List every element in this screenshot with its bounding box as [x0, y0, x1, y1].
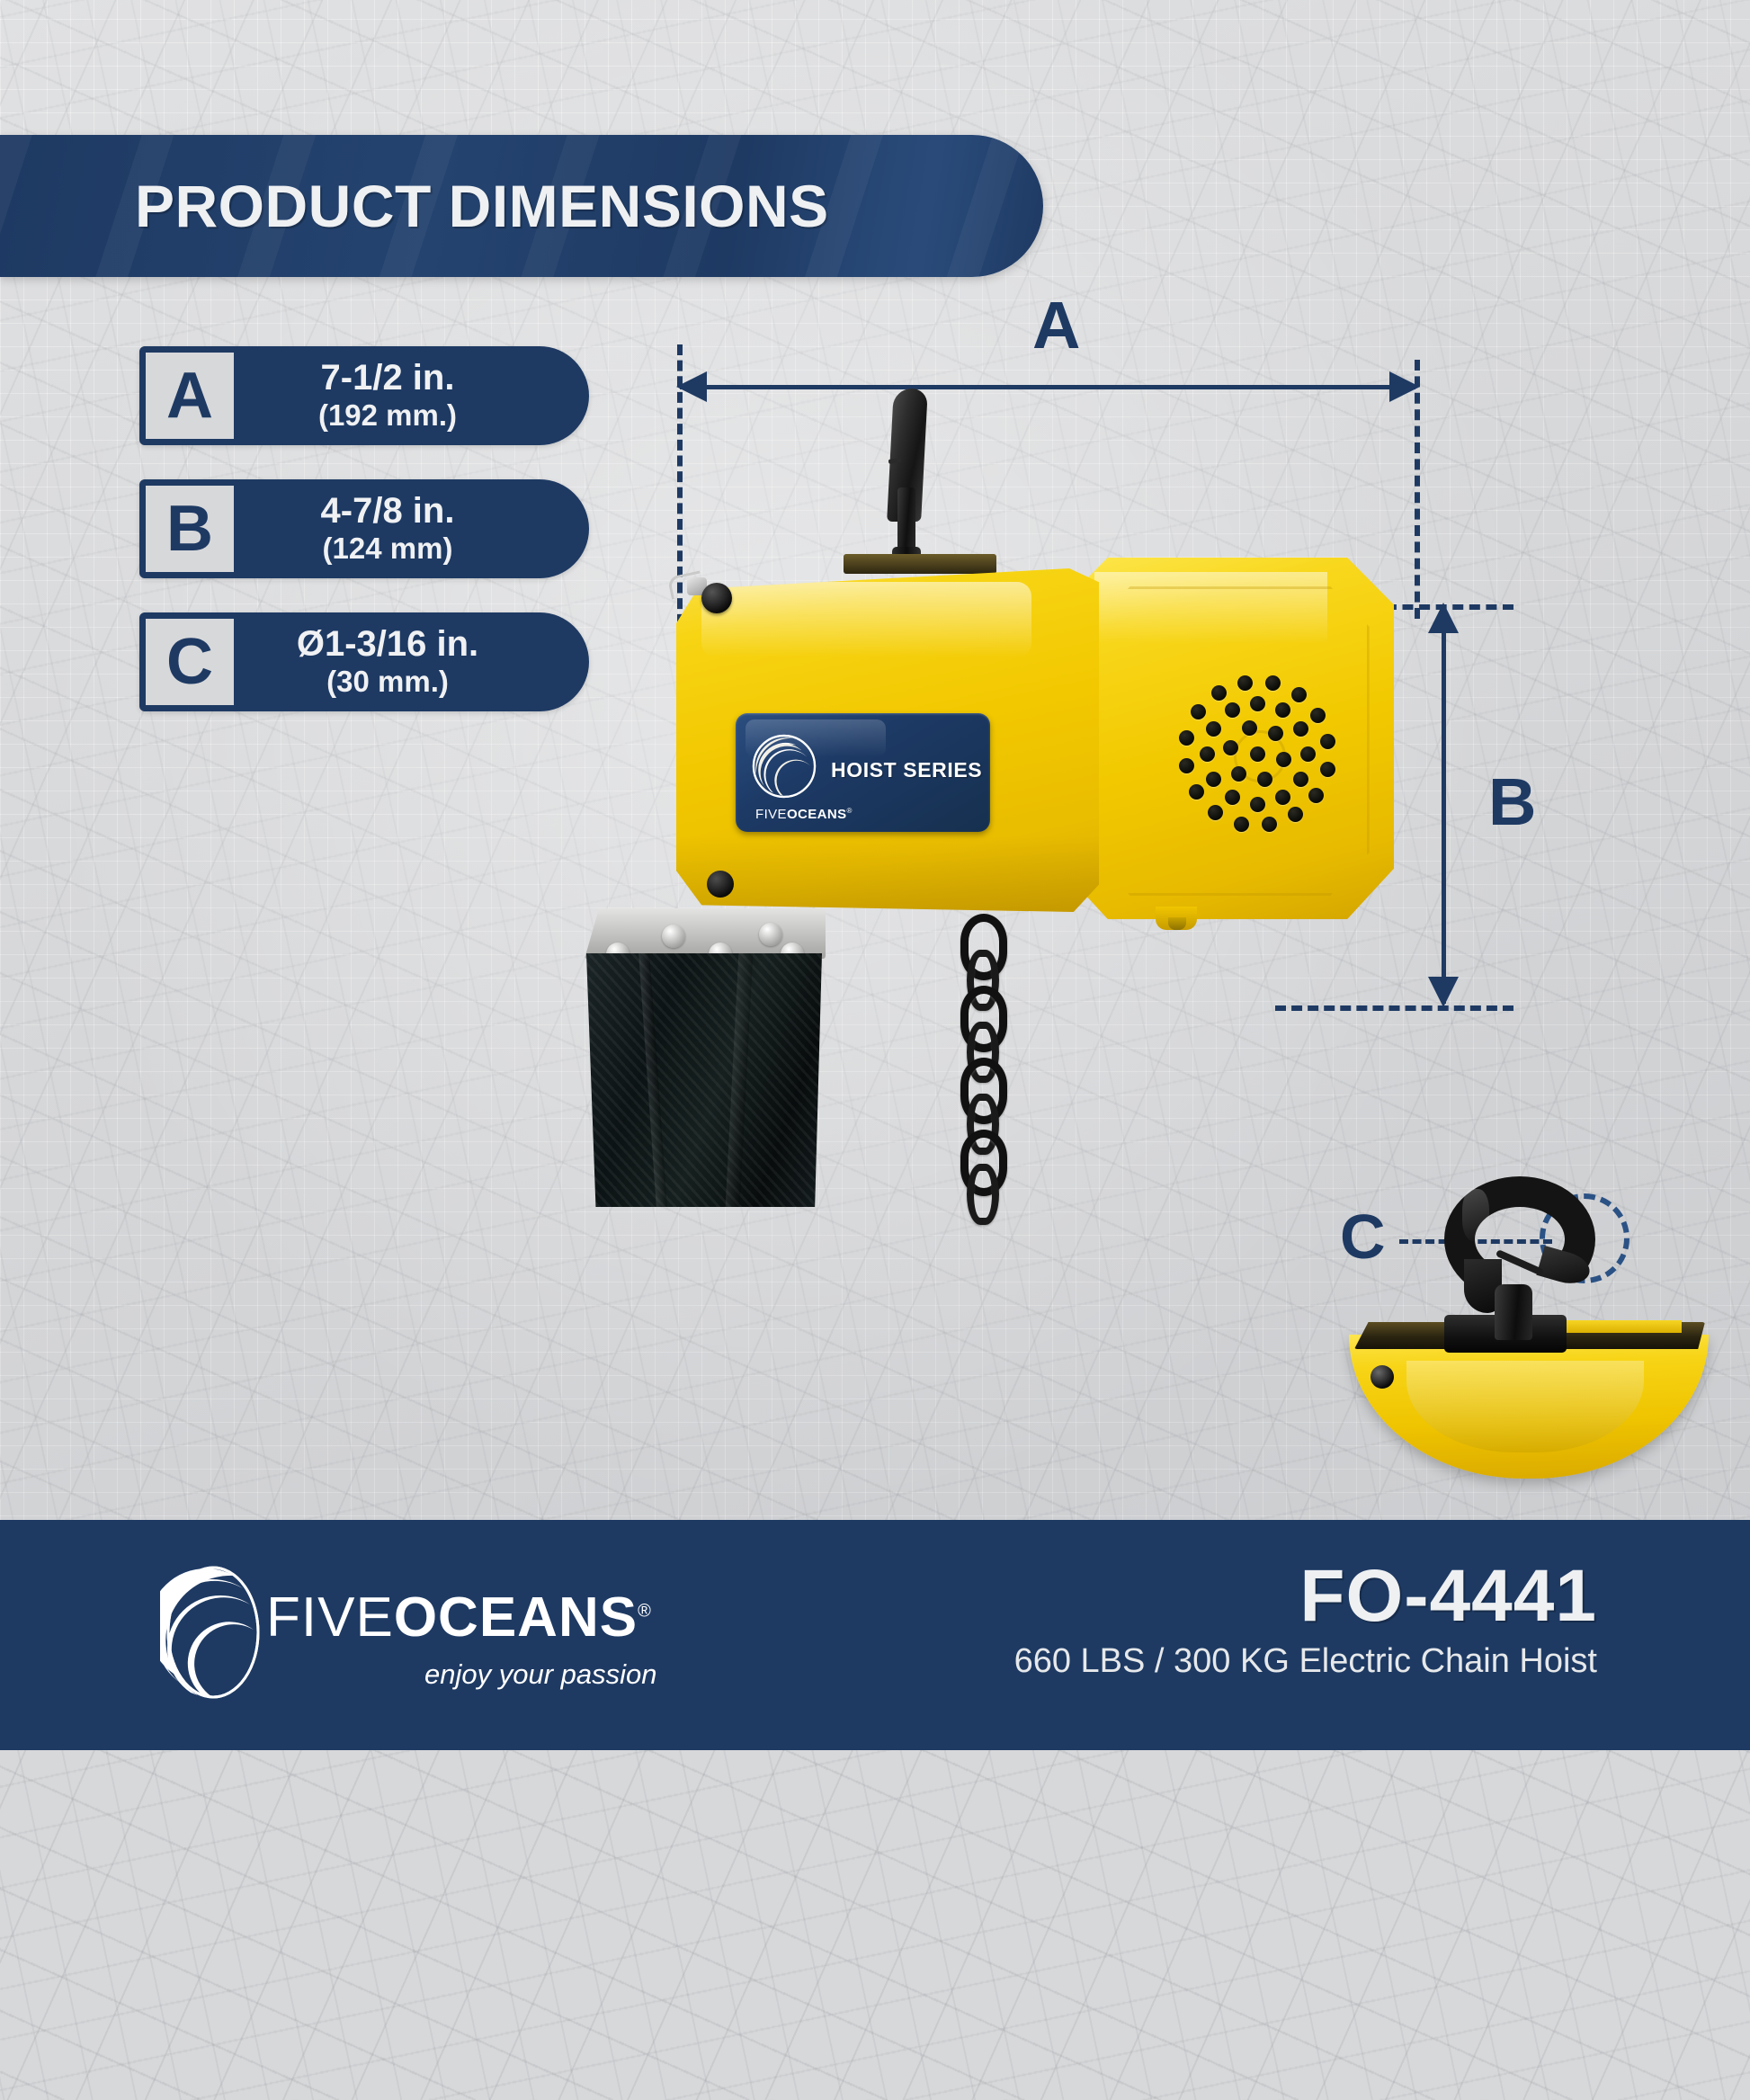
vent-hole: [1310, 708, 1326, 723]
vent-hole: [1242, 720, 1257, 736]
vent-hole: [1291, 687, 1307, 702]
dimension-line-b: [1442, 608, 1446, 1004]
product-image-hoist: HOIST SERIES FIVEOCEANS®: [665, 378, 1403, 1295]
vent-hole: [1320, 734, 1335, 749]
hoist-top-mounting-plate: [844, 554, 996, 574]
vent-hole: [1206, 772, 1221, 787]
dimension-legend: A 7-1/2 in. (192 mm.) B 4-7/8 in. (124 m…: [139, 346, 589, 746]
bag-bolt: [662, 925, 685, 948]
load-hook-highlight: [1462, 1189, 1489, 1241]
five-oceans-logo-mark-icon: [751, 733, 817, 800]
screw-icon-bottom-left: [707, 871, 734, 898]
vent-hole: [1179, 730, 1194, 746]
arrow-down-icon: [1428, 977, 1459, 1007]
vent-hole: [1265, 675, 1281, 691]
vent-hole: [1225, 790, 1240, 805]
vent-hole: [1276, 752, 1291, 767]
bag-fold: [638, 953, 667, 1207]
dimension-label-b: B: [1488, 769, 1536, 836]
nameplate-brand-thin: FIVE: [755, 807, 787, 822]
vent-hole: [1268, 726, 1283, 741]
vent-hole: [1189, 784, 1204, 800]
legend-metric-c: (30 mm.): [326, 664, 449, 700]
nameplate-brand-text: FIVEOCEANS®: [755, 807, 853, 822]
legend-letter-b: B: [166, 496, 213, 561]
nameplate-series-text: HOIST SERIES: [831, 758, 982, 782]
detail-view-hook: [1329, 1169, 1725, 1475]
nameplate-brand-bold: OCEANS: [787, 807, 847, 822]
footer-tagline: enjoy your passion: [424, 1658, 657, 1691]
vent-hole: [1275, 790, 1290, 805]
vent-hole: [1225, 702, 1240, 718]
bag-fold: [726, 953, 754, 1207]
legend-letter-box-a: A: [139, 346, 240, 445]
legend-values-a: 7-1/2 in. (192 mm.): [240, 359, 589, 433]
five-oceans-logo-mark-icon: [160, 1565, 266, 1700]
hook-block-body: [1349, 1335, 1709, 1479]
footer-brand-logo: FIVEOCEANS® enjoy your passion: [160, 1558, 628, 1711]
hook-block-facet: [1406, 1361, 1644, 1452]
vent-hole: [1293, 772, 1308, 787]
legend-imperial-c: Ø1-3/16 in.: [297, 625, 478, 664]
top-suspension-hook-icon: [887, 389, 928, 559]
vent-hole: [1231, 766, 1246, 782]
chain-link: [967, 1164, 999, 1225]
screw-icon-top-left: [701, 583, 732, 613]
footer-brand-thin: FIVE: [266, 1586, 394, 1649]
vent-hole: [1262, 817, 1277, 832]
legend-metric-b: (124 mm): [323, 531, 453, 567]
vent-hole: [1211, 685, 1227, 701]
vent-hole: [1320, 762, 1335, 777]
dimension-label-a: A: [1032, 292, 1080, 359]
vent-hole: [1275, 702, 1290, 718]
product-sku: FO-4441: [1014, 1559, 1597, 1633]
hook-shank: [897, 487, 915, 555]
hoist-bottom-pin: [1168, 917, 1186, 930]
vent-hole: [1237, 675, 1253, 691]
vent-hole: [1250, 797, 1265, 812]
legend-metric-a: (192 mm.): [318, 398, 457, 433]
vent-hole: [1206, 721, 1221, 737]
bag-bolt: [759, 923, 782, 946]
legend-item-c: C Ø1-3/16 in. (30 mm.): [139, 612, 589, 711]
header-banner: PRODUCT DIMENSIONS: [0, 135, 1043, 277]
footer-registered-mark: ®: [638, 1601, 652, 1621]
footer-brand-wordmark: FIVEOCEANS®: [266, 1590, 652, 1646]
vent-hole: [1191, 704, 1206, 719]
legend-letter-c: C: [166, 630, 213, 694]
vent-hole: [1200, 746, 1215, 762]
vent-hole: [1257, 772, 1272, 787]
body-gloss: [701, 582, 1031, 657]
vent-hole: [1179, 758, 1194, 773]
legend-letter-box-b: B: [139, 479, 240, 578]
load-hook-shank: [1495, 1284, 1532, 1340]
vent-hole: [1234, 817, 1249, 832]
body-bottom-shade: [676, 836, 1099, 912]
vent-hole: [1250, 696, 1265, 711]
footer-brand-bold: OCEANS: [394, 1586, 638, 1649]
legend-imperial-b: 4-7/8 in.: [321, 492, 455, 531]
product-description: 660 LBS / 300 KG Electric Chain Hoist: [1014, 1639, 1597, 1684]
legend-item-b: B 4-7/8 in. (124 mm): [139, 479, 589, 578]
vent-hole: [1308, 788, 1324, 803]
ventilation-grille-icon: [1176, 673, 1338, 835]
legend-letter-a: A: [166, 363, 213, 428]
vent-hole: [1208, 805, 1223, 820]
hook-block-screw-icon: [1371, 1365, 1394, 1389]
product-nameplate: HOIST SERIES FIVEOCEANS®: [736, 713, 990, 832]
load-hook-icon: [1439, 1176, 1601, 1336]
vent-hole: [1293, 721, 1308, 737]
page-title: PRODUCT DIMENSIONS: [135, 172, 829, 240]
chain-storage-bag: [586, 953, 822, 1207]
legend-letter-box-c: C: [139, 612, 240, 711]
nameplate-registered-mark: ®: [847, 807, 853, 815]
legend-values-b: 4-7/8 in. (124 mm): [240, 492, 589, 567]
hoist-motor-housing: [1061, 558, 1394, 919]
legend-imperial-a: 7-1/2 in.: [321, 359, 455, 398]
footer-product-info: FO-4441 660 LBS / 300 KG Electric Chain …: [1014, 1559, 1597, 1684]
vent-hole: [1300, 746, 1316, 762]
arrow-up-icon: [1428, 603, 1459, 633]
vent-hole: [1288, 807, 1303, 822]
legend-item-a: A 7-1/2 in. (192 mm.): [139, 346, 589, 445]
legend-values-c: Ø1-3/16 in. (30 mm.): [240, 625, 589, 700]
vent-hole: [1250, 746, 1265, 762]
footer-bar: FIVEOCEANS® enjoy your passion FO-4441 6…: [0, 1520, 1750, 1750]
load-chain: [955, 914, 996, 1212]
